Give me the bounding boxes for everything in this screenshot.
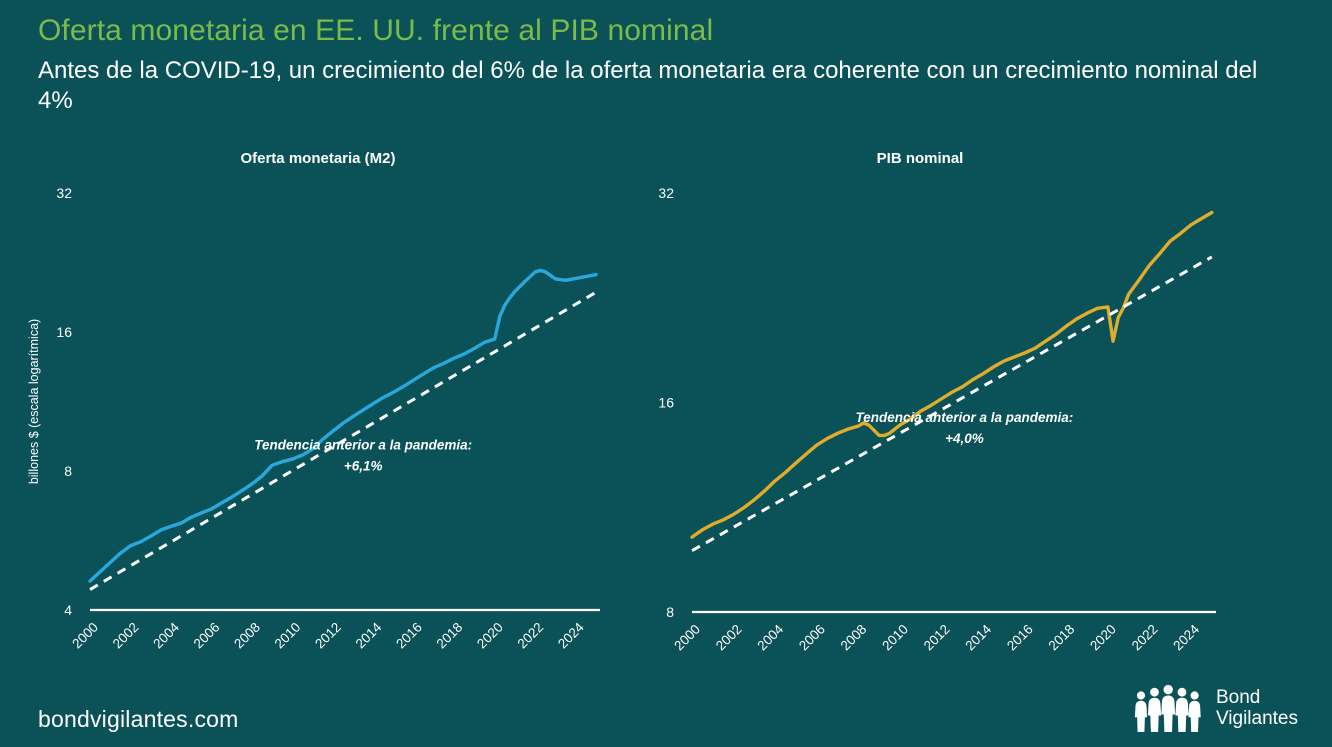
y-axis-tick-label: 8: [666, 604, 674, 620]
x-axis-tick-label: 2000: [69, 620, 101, 652]
trend-line: [692, 257, 1212, 551]
x-axis-tick-label: 2014: [962, 621, 994, 653]
x-axis-tick-label: 2016: [393, 620, 425, 652]
x-axis-tick-label: 2020: [1087, 622, 1119, 654]
annotation-trend-label: Tendencia anterior a la pandemia:: [254, 438, 472, 453]
annotation-trend-value: +6,1%: [344, 459, 383, 474]
y-axis-tick-label: 32: [658, 185, 674, 201]
brand-text: Bond Vigilantes: [1216, 687, 1298, 730]
footer-url[interactable]: bondvigilantes.com: [38, 706, 239, 733]
x-axis-tick-label: 2024: [1170, 621, 1202, 653]
brand-logo: Bond Vigilantes: [1132, 683, 1298, 733]
page-title: Oferta monetaria en EE. UU. frente al PI…: [38, 12, 1298, 50]
x-axis-tick-label: 2010: [272, 620, 304, 652]
x-axis-tick-label: 2022: [515, 620, 547, 652]
x-axis-tick-label: 2006: [796, 622, 828, 654]
chart-m2: 481632billones $ (escala logarítmica)200…: [20, 140, 660, 660]
x-axis-tick-label: 2014: [353, 619, 385, 651]
y-axis-title: billones $ (escala logarítmica): [27, 319, 41, 484]
annotation-trend-label: Tendencia anterior a la pandemia:: [855, 410, 1073, 425]
y-axis-tick-label: 8: [64, 463, 72, 479]
data-line: [692, 213, 1212, 538]
brand-line-2: Vigilantes: [1216, 708, 1298, 729]
x-axis-tick-label: 2016: [1004, 622, 1036, 654]
x-axis-tick-label: 2010: [879, 622, 911, 654]
x-axis-tick-label: 2020: [474, 620, 506, 652]
charts-container: Oferta monetaria (M2) 481632billones $ (…: [0, 140, 1332, 660]
y-axis-tick-label: 16: [658, 395, 674, 411]
brand-line-1: Bond: [1216, 687, 1298, 708]
x-axis-tick-label: 2006: [191, 620, 223, 652]
x-axis-tick-label: 2002: [110, 620, 142, 652]
people-group-icon: [1132, 683, 1204, 733]
chart-panel-m2: Oferta monetaria (M2) 481632billones $ (…: [20, 140, 660, 660]
x-axis-tick-label: 2008: [231, 620, 263, 652]
x-axis-tick-label: 2008: [838, 622, 870, 654]
page-subtitle: Antes de la COVID-19, un crecimiento del…: [38, 56, 1268, 117]
x-axis-tick-label: 2018: [434, 620, 466, 652]
annotation-trend-value: +4,0%: [945, 431, 984, 446]
header: Oferta monetaria en EE. UU. frente al PI…: [38, 12, 1298, 117]
y-axis-tick-label: 16: [56, 324, 72, 340]
y-axis-tick-label: 4: [64, 602, 72, 618]
chart-gdp: 81632billones $ (escala logarítmica)2000…: [648, 140, 1288, 660]
x-axis-tick-label: 2000: [671, 622, 703, 654]
x-axis-tick-label: 2004: [150, 619, 182, 651]
data-line: [90, 270, 596, 581]
chart-panel-gdp: PIB nominal 81632billones $ (escala loga…: [648, 140, 1288, 660]
x-axis-tick-label: 2012: [312, 620, 344, 652]
x-axis-tick-label: 2012: [921, 622, 953, 654]
x-axis-tick-label: 2002: [713, 622, 745, 654]
slide-canvas: Oferta monetaria en EE. UU. frente al PI…: [0, 0, 1332, 747]
x-axis-tick-label: 2004: [754, 621, 786, 653]
x-axis-tick-label: 2024: [555, 619, 587, 651]
x-axis-tick-label: 2018: [1046, 622, 1078, 654]
y-axis-tick-label: 32: [56, 185, 72, 201]
x-axis-tick-label: 2022: [1129, 622, 1161, 654]
